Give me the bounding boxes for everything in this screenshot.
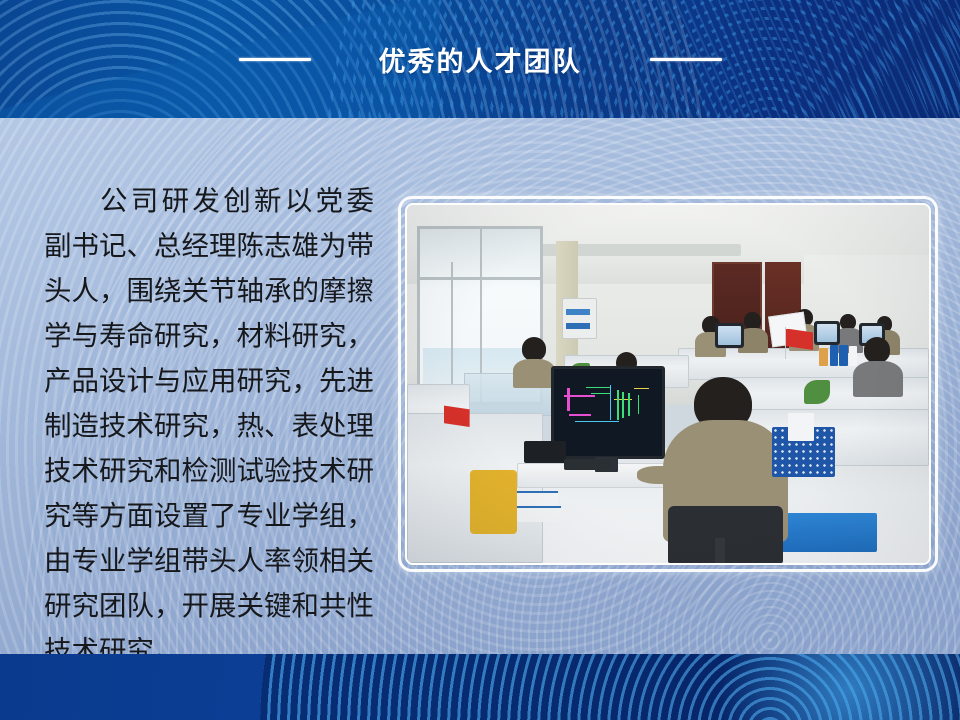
office-photo	[405, 203, 931, 565]
presentation-slide: 优秀的人才团队 公司研发创新以党委副书记、总经理陈志雄为带头人，围绕关节轴承的摩…	[0, 0, 960, 720]
slide-header-band: 优秀的人才团队	[0, 0, 960, 118]
photo-frame	[398, 196, 938, 572]
slide-footer-band	[0, 654, 960, 720]
page-title: 优秀的人才团队	[379, 40, 582, 79]
title-rule-left-icon	[239, 58, 311, 61]
title-rule-right-icon	[650, 58, 722, 61]
body-paragraph: 公司研发创新以党委副书记、总经理陈志雄为带头人，围绕关节轴承的摩擦学与寿命研究，…	[44, 178, 374, 673]
photo-vignette	[407, 205, 929, 563]
footer-glow	[700, 654, 960, 720]
title-row: 优秀的人才团队	[0, 0, 960, 118]
